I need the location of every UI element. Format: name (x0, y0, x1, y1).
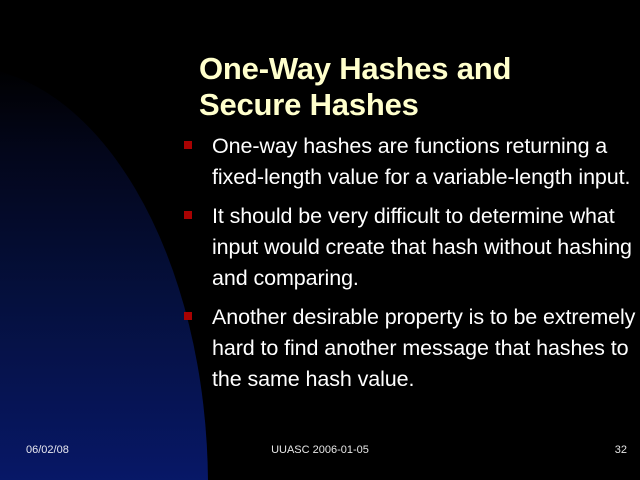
presentation-slide: One-Way Hashes and Secure Hashes One-way… (0, 0, 640, 480)
bullet-list: One-way hashes are functions returning a… (183, 131, 638, 403)
bullet-text: Another desirable property is to be extr… (212, 305, 635, 391)
bullet-square-icon (184, 141, 192, 149)
bullet-text: One-way hashes are functions returning a… (212, 134, 630, 189)
bullet-square-icon (184, 312, 192, 320)
footer-event-label: UUASC 2006-01-05 (0, 444, 640, 456)
list-item: One-way hashes are functions returning a… (183, 131, 638, 193)
list-item: Another desirable property is to be extr… (183, 302, 638, 395)
list-item: It should be very difficult to determine… (183, 201, 638, 294)
bullet-square-icon (184, 211, 192, 219)
slide-title: One-Way Hashes and Secure Hashes (199, 51, 629, 123)
bullet-text: It should be very difficult to determine… (212, 204, 632, 290)
footer-page-number: 32 (615, 444, 627, 456)
